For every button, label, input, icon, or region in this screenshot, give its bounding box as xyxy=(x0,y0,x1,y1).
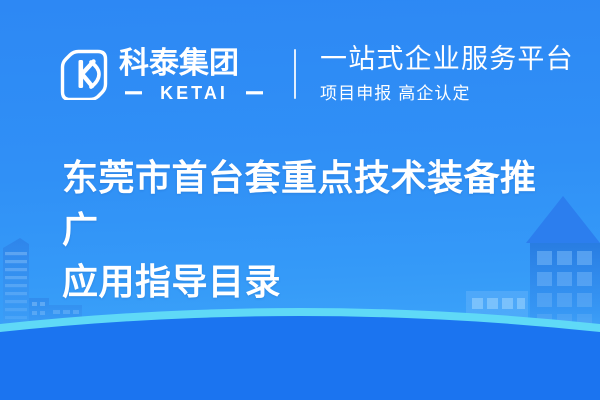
brand-name-en: KETAI xyxy=(160,83,228,102)
brand-logo[interactable]: 科泰集团 KETAI xyxy=(58,47,269,102)
page-title-line-2: 应用指导目录 xyxy=(62,256,562,308)
tagline-main: 一站式企业服务平台 xyxy=(320,44,574,74)
brand-name-en-art: KETAI xyxy=(119,82,269,102)
banner-header: 科泰集团 KETAI 一站式企业服务平台 项目申报 高企认定 xyxy=(0,36,600,112)
tagline-sub: 项目申报 高企认定 xyxy=(320,79,574,104)
brand-name-cn: 科泰集团 xyxy=(119,47,239,79)
page-title-line-1: 东莞市首台套重点技术装备推广 xyxy=(62,152,562,256)
promo-banner: 科泰集团 KETAI 一站式企业服务平台 项目申报 高企认定 东莞市首台套重点技… xyxy=(0,0,600,400)
brand-wordmark: 科泰集团 KETAI xyxy=(119,47,269,102)
header-divider xyxy=(294,49,296,99)
ketai-monogram-icon xyxy=(58,48,110,100)
brand-name-cn-art: 科泰集团 xyxy=(119,47,269,79)
tagline-block: 一站式企业服务平台 项目申报 高企认定 xyxy=(320,44,574,104)
page-title: 东莞市首台套重点技术装备推广 应用指导目录 xyxy=(62,152,562,308)
